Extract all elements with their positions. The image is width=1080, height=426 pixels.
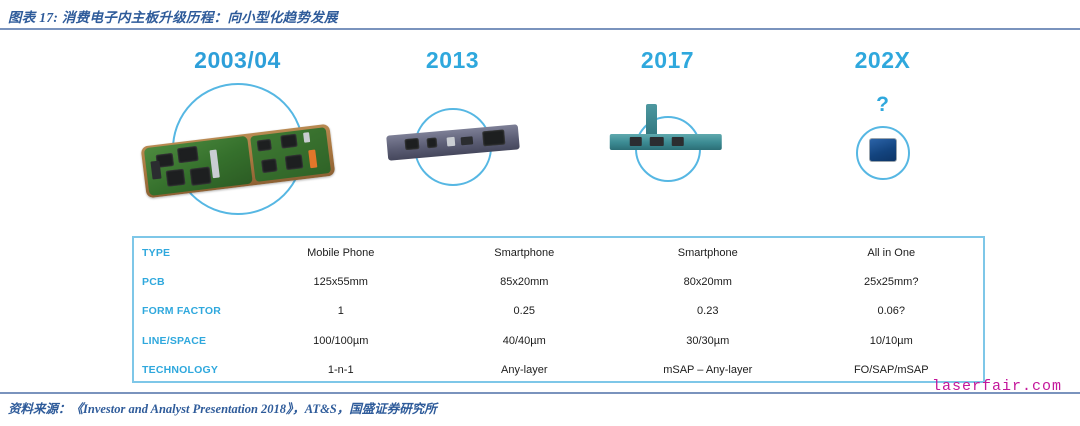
year-label-2017: 2017 — [560, 47, 775, 77]
watermark-label: laserfair.com — [932, 378, 1062, 395]
cell-line-space-2017: 30/30µm — [616, 335, 800, 347]
pcb-figure-2017 — [560, 78, 775, 228]
cell-form-factor-2003: 1 — [249, 305, 433, 317]
year-header-row: 2003/04 2013 2017 202X — [130, 47, 990, 77]
cell-type-2017: Smartphone — [616, 247, 800, 259]
cell-technology-2017: mSAP – Any-layer — [616, 364, 800, 376]
cell-pcb-2013: 85x20mm — [433, 276, 617, 288]
cell-pcb-2017: 80x20mm — [616, 276, 800, 288]
footer-divider — [0, 392, 1080, 394]
cell-pcb-202x: 25x25mm? — [800, 276, 984, 288]
cell-type-2013: Smartphone — [433, 247, 617, 259]
pcb-board-image-2017 — [609, 134, 721, 150]
cell-type-2003: Mobile Phone — [249, 247, 433, 259]
cell-type-202x: All in One — [800, 247, 984, 259]
chip-module-image-202x — [869, 138, 897, 162]
pcb-figure-strip: ? — [130, 78, 990, 228]
cell-technology-202x: FO/SAP/mSAP — [800, 364, 984, 376]
pcb-figure-2003 — [130, 78, 345, 228]
table-row: LINE/SPACE 100/100µm 40/40µm 30/30µm 10/… — [134, 326, 983, 355]
cell-form-factor-202x: 0.06? — [800, 305, 984, 317]
year-label-2003: 2003/04 — [130, 47, 345, 77]
year-label-2013: 2013 — [345, 47, 560, 77]
table-row: FORM FACTOR 1 0.25 0.23 0.06? — [134, 297, 983, 326]
row-label-line-space: LINE/SPACE — [134, 335, 249, 347]
spec-table: TYPE Mobile Phone Smartphone Smartphone … — [132, 236, 985, 383]
cell-pcb-2003: 125x55mm — [249, 276, 433, 288]
source-note: 资料来源：《Investor and Analyst Presentation … — [8, 398, 437, 417]
table-row: TECHNOLOGY 1-n-1 Any-layer mSAP – Any-la… — [134, 356, 983, 385]
question-mark-label: ? — [876, 93, 889, 117]
cell-form-factor-2013: 0.25 — [433, 305, 617, 317]
pcb-board-image-2003 — [140, 124, 335, 199]
row-label-technology: TECHNOLOGY — [134, 364, 249, 376]
table-row: TYPE Mobile Phone Smartphone Smartphone … — [134, 238, 983, 267]
cell-technology-2013: Any-layer — [433, 364, 617, 376]
cell-line-space-2003: 100/100µm — [249, 335, 433, 347]
cell-line-space-2013: 40/40µm — [433, 335, 617, 347]
pcb-board-arm-2017 — [646, 104, 657, 138]
title-divider — [0, 28, 1080, 30]
page-title: 图表 17: 消费电子内主板升级历程：向小型化趋势发展 — [8, 6, 338, 26]
row-label-type: TYPE — [134, 247, 249, 259]
cell-line-space-202x: 10/10µm — [800, 335, 984, 347]
year-label-202x: 202X — [775, 47, 990, 77]
row-label-form-factor: FORM FACTOR — [134, 305, 249, 317]
pcb-figure-202x: ? — [775, 78, 990, 228]
cell-form-factor-2017: 0.23 — [616, 305, 800, 317]
cell-technology-2003: 1-n-1 — [249, 364, 433, 376]
pcb-figure-2013 — [345, 78, 560, 228]
row-label-pcb: PCB — [134, 276, 249, 288]
table-row: PCB 125x55mm 85x20mm 80x20mm 25x25mm? — [134, 267, 983, 296]
